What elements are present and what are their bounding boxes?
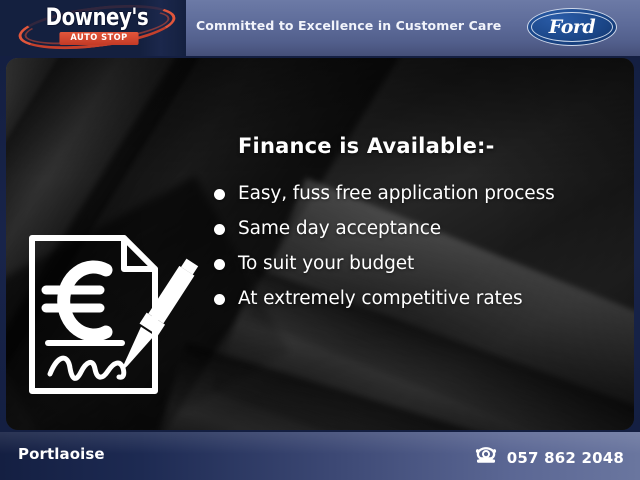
main-panel-frame: Finance is Available:- Easy, fuss free a…: [0, 56, 640, 432]
finance-benefits-list: Easy, fuss free application process Same…: [206, 184, 634, 309]
list-item: To suit your budget: [206, 254, 634, 274]
footer-phone-group[interactable]: 057 862 2048: [474, 446, 624, 469]
finance-document-euro-pen-icon: [24, 226, 199, 401]
page-title: Finance is Available:-: [238, 134, 634, 158]
downeys-logo-icon[interactable]: Downey's AUTO STOP: [18, 3, 178, 53]
brand-name: Downey's: [39, 4, 155, 30]
brand-subtitle: AUTO STOP: [59, 32, 138, 45]
list-item: Same day acceptance: [206, 219, 634, 239]
list-item: Easy, fuss free application process: [206, 184, 634, 204]
ford-wordmark: Ford: [527, 14, 617, 40]
ford-oval-icon[interactable]: Ford: [527, 8, 617, 46]
page-header: Downey's AUTO STOP Committed to Excellen…: [0, 0, 640, 56]
footer-phone-number: 057 862 2048: [507, 449, 624, 467]
footer-location: Portlaoise: [18, 445, 105, 463]
telephone-icon: [474, 446, 498, 469]
finance-content: Finance is Available:- Easy, fuss free a…: [206, 134, 634, 324]
list-item: At extremely competitive rates: [206, 289, 634, 309]
page-footer: Portlaoise 057 862 2048: [0, 432, 640, 480]
main-panel: Finance is Available:- Easy, fuss free a…: [6, 58, 634, 430]
dealership-finance-banner: Downey's AUTO STOP Committed to Excellen…: [0, 0, 640, 480]
header-tagline: Committed to Excellence in Customer Care: [196, 18, 501, 33]
